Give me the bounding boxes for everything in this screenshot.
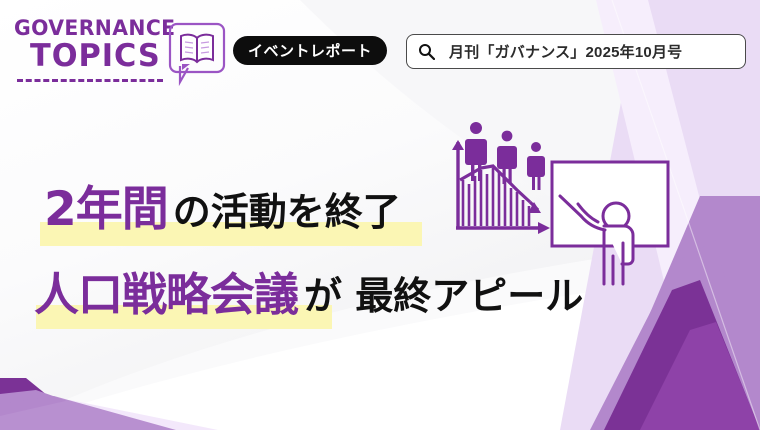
banner-root: GOVERNANCE TOPICS イベントレポート: [0, 0, 760, 430]
logo-line-topics: TOPICS: [30, 40, 171, 73]
badge-label: イベントレポート: [248, 40, 372, 61]
search-value: 月刊「ガバナンス」2025年10月号: [449, 41, 682, 62]
person-figure-small: [527, 142, 545, 190]
search-box[interactable]: 月刊「ガバナンス」2025年10月号: [406, 34, 746, 69]
site-logo[interactable]: GOVERNANCE TOPICS: [14, 18, 174, 82]
header: GOVERNANCE TOPICS イベントレポート: [0, 0, 760, 95]
logo-dashed-rule: [17, 79, 163, 82]
logo-line-governance: GOVERNANCE: [14, 18, 169, 39]
event-report-badge[interactable]: イベントレポート: [233, 36, 387, 65]
population-decline-and-presenter-illustration: [438, 118, 678, 286]
search-icon: [418, 43, 435, 60]
open-book-speech-bubble-icon: [168, 22, 226, 88]
